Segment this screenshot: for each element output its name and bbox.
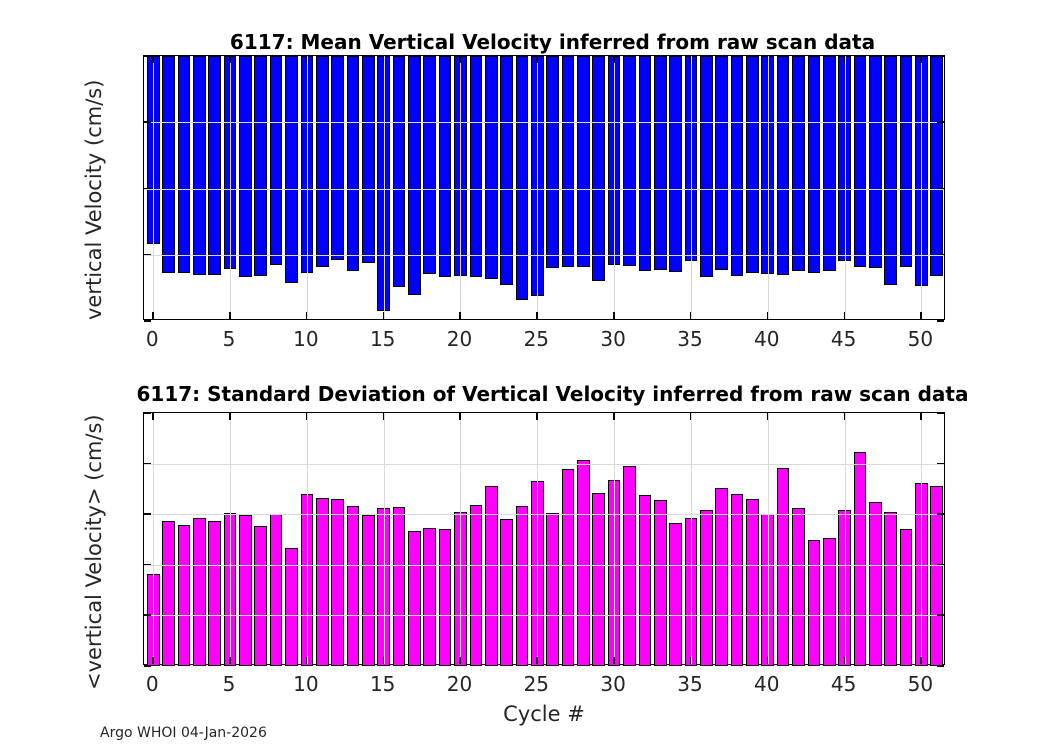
x-tick-label: 30 xyxy=(573,329,653,349)
bar xyxy=(577,460,590,666)
figure-canvas: 6117: Mean Vertical Velocity inferred fr… xyxy=(0,0,1050,750)
x-tick-mark xyxy=(152,312,154,319)
y-tick-mark xyxy=(144,254,151,256)
x-tick-label: 20 xyxy=(419,674,499,694)
bar xyxy=(208,56,221,275)
footer-attribution: Argo WHOI 04-Jan-2026 xyxy=(100,725,267,741)
bar-series-std xyxy=(144,413,944,664)
x-tick-mark xyxy=(920,56,922,63)
y-tick-mark xyxy=(144,614,151,616)
gridline-horizontal xyxy=(144,122,944,123)
plot-area-std xyxy=(143,412,945,665)
bar xyxy=(193,56,206,275)
x-tick-label: 35 xyxy=(650,674,730,694)
gridline-vertical xyxy=(460,56,461,319)
x-tick-label: 50 xyxy=(880,329,960,349)
bar xyxy=(639,56,652,271)
x-tick-mark xyxy=(152,56,154,63)
bar xyxy=(700,510,713,666)
x-axis-label: Cycle # xyxy=(143,702,945,726)
x-tick-mark xyxy=(383,413,385,420)
y-tick-mark xyxy=(144,665,151,667)
gridline-vertical xyxy=(845,413,846,664)
bar xyxy=(731,56,744,276)
bar xyxy=(792,56,805,271)
bar xyxy=(808,56,821,273)
gridline-vertical xyxy=(614,56,615,319)
bar xyxy=(485,56,498,279)
bar xyxy=(500,519,513,666)
bar xyxy=(485,486,498,666)
y-tick-mark xyxy=(144,320,151,322)
bar xyxy=(746,56,759,273)
y-tick-mark xyxy=(937,188,944,190)
y-tick-mark xyxy=(937,665,944,667)
bar xyxy=(500,56,513,285)
bar xyxy=(516,56,529,300)
x-tick-mark xyxy=(690,657,692,664)
plot-area-mean xyxy=(143,55,945,320)
gridline-vertical xyxy=(845,56,846,319)
bar xyxy=(869,56,882,268)
x-tick-mark xyxy=(690,413,692,420)
bar xyxy=(700,56,713,277)
bar xyxy=(208,521,221,666)
x-tick-mark xyxy=(306,657,308,664)
bar xyxy=(823,538,836,666)
y-tick-mark xyxy=(937,614,944,616)
bar xyxy=(347,506,360,666)
y-tick-mark xyxy=(937,463,944,465)
bar xyxy=(869,502,882,666)
bar xyxy=(270,56,283,265)
x-tick-mark xyxy=(306,312,308,319)
x-tick-label: 0 xyxy=(112,674,192,694)
x-tick-mark xyxy=(536,56,538,63)
bar xyxy=(439,56,452,277)
x-tick-mark xyxy=(383,312,385,319)
x-tick-mark xyxy=(844,56,846,63)
x-tick-mark xyxy=(767,657,769,664)
bar xyxy=(331,56,344,260)
gridline-vertical xyxy=(691,56,692,319)
x-tick-mark xyxy=(536,413,538,420)
gridline-horizontal xyxy=(144,255,944,256)
gridline-horizontal xyxy=(144,565,944,566)
x-tick-label: 10 xyxy=(266,329,346,349)
bar xyxy=(654,500,667,666)
gridline-horizontal xyxy=(144,615,944,616)
bar xyxy=(854,56,867,267)
x-tick-mark xyxy=(459,657,461,664)
bar xyxy=(623,56,636,266)
bar xyxy=(439,529,452,666)
bar xyxy=(654,56,667,270)
x-tick-mark xyxy=(536,312,538,319)
gridline-vertical xyxy=(768,56,769,319)
x-tick-mark xyxy=(383,657,385,664)
gridline-vertical xyxy=(230,56,231,319)
bar xyxy=(884,512,897,666)
bar xyxy=(639,495,652,666)
bar xyxy=(669,523,682,666)
gridline-vertical xyxy=(230,413,231,664)
bar xyxy=(178,56,191,273)
gridline-vertical xyxy=(384,413,385,664)
x-tick-label: 25 xyxy=(496,329,576,349)
x-tick-mark xyxy=(459,312,461,319)
gridline-vertical xyxy=(614,413,615,664)
bar xyxy=(362,515,375,666)
bar xyxy=(746,499,759,666)
x-tick-mark xyxy=(613,312,615,319)
y-tick-mark xyxy=(937,121,944,123)
bar xyxy=(162,521,175,666)
bar xyxy=(331,499,344,666)
y-axis-label-mean: vertical Velocity (cm/s) xyxy=(82,80,106,320)
bar xyxy=(823,56,836,271)
x-tick-mark xyxy=(229,413,231,420)
bar xyxy=(162,56,175,273)
gridline-horizontal xyxy=(144,514,944,515)
x-tick-label: 10 xyxy=(266,674,346,694)
bar xyxy=(347,56,360,271)
bar xyxy=(470,56,483,277)
y-tick-mark xyxy=(937,55,944,57)
y-tick-mark xyxy=(937,564,944,566)
y-tick-mark xyxy=(144,412,151,414)
x-tick-mark xyxy=(229,56,231,63)
bar xyxy=(930,56,943,276)
bar xyxy=(577,56,590,267)
x-tick-mark xyxy=(767,56,769,63)
bar xyxy=(470,505,483,666)
bar xyxy=(393,56,406,287)
y-tick-mark xyxy=(937,412,944,414)
x-tick-label: 40 xyxy=(727,329,807,349)
bar xyxy=(270,514,283,666)
y-tick-mark xyxy=(937,320,944,322)
x-tick-mark xyxy=(152,657,154,664)
bar xyxy=(516,506,529,666)
x-tick-label: 0 xyxy=(112,329,192,349)
x-tick-mark xyxy=(920,657,922,664)
x-tick-mark xyxy=(459,413,461,420)
x-tick-mark xyxy=(690,56,692,63)
bar-series-mean xyxy=(144,56,944,319)
x-tick-mark xyxy=(229,312,231,319)
x-tick-label: 50 xyxy=(880,674,960,694)
bar xyxy=(362,56,375,263)
bar xyxy=(254,56,267,276)
bar xyxy=(900,56,913,267)
gridline-vertical xyxy=(768,413,769,664)
bar xyxy=(854,452,867,666)
y-tick-mark xyxy=(144,188,151,190)
gridline-vertical xyxy=(921,413,922,664)
x-tick-mark xyxy=(613,56,615,63)
x-tick-mark xyxy=(536,657,538,664)
x-tick-label: 30 xyxy=(573,674,653,694)
bar xyxy=(562,469,575,666)
x-tick-mark xyxy=(229,657,231,664)
x-tick-mark xyxy=(767,312,769,319)
y-tick-mark xyxy=(144,513,151,515)
x-tick-mark xyxy=(306,56,308,63)
bar xyxy=(777,56,790,275)
x-tick-label: 45 xyxy=(804,674,884,694)
x-tick-mark xyxy=(767,413,769,420)
x-tick-mark xyxy=(844,312,846,319)
x-tick-label: 15 xyxy=(343,674,423,694)
chart-title-std: 6117: Standard Deviation of Vertical Vel… xyxy=(60,382,1045,406)
bar xyxy=(193,518,206,666)
y-tick-mark xyxy=(144,564,151,566)
bar xyxy=(178,525,191,666)
y-tick-mark xyxy=(144,55,151,57)
x-tick-label: 20 xyxy=(419,329,499,349)
x-tick-mark xyxy=(306,413,308,420)
bar xyxy=(408,531,421,666)
gridline-vertical xyxy=(307,413,308,664)
bar xyxy=(239,515,252,666)
x-tick-mark xyxy=(844,657,846,664)
bar xyxy=(900,529,913,666)
gridline-vertical xyxy=(460,413,461,664)
bar xyxy=(792,508,805,666)
bar xyxy=(285,56,298,283)
y-tick-mark xyxy=(937,513,944,515)
x-tick-label: 5 xyxy=(189,329,269,349)
gridline-vertical xyxy=(537,56,538,319)
bar xyxy=(884,56,897,285)
x-tick-label: 25 xyxy=(496,674,576,694)
bar xyxy=(715,56,728,270)
x-tick-mark xyxy=(613,413,615,420)
y-tick-mark xyxy=(937,254,944,256)
y-tick-mark xyxy=(144,463,151,465)
bar xyxy=(562,56,575,267)
x-tick-label: 15 xyxy=(343,329,423,349)
bar xyxy=(546,56,559,268)
x-tick-label: 45 xyxy=(804,329,884,349)
bar xyxy=(254,526,267,666)
bar xyxy=(408,56,421,295)
x-tick-mark xyxy=(152,413,154,420)
gridline-vertical xyxy=(153,413,154,664)
bar xyxy=(393,507,406,666)
x-tick-mark xyxy=(613,657,615,664)
x-tick-mark xyxy=(844,413,846,420)
bar xyxy=(623,466,636,666)
bar xyxy=(423,528,436,666)
gridline-vertical xyxy=(307,56,308,319)
bar xyxy=(316,498,329,666)
bar xyxy=(808,540,821,667)
x-tick-label: 5 xyxy=(189,674,269,694)
x-tick-label: 40 xyxy=(727,674,807,694)
x-tick-mark xyxy=(920,413,922,420)
bar xyxy=(669,56,682,272)
y-tick-mark xyxy=(144,121,151,123)
bar xyxy=(546,513,559,666)
bar xyxy=(777,468,790,666)
x-tick-mark xyxy=(459,56,461,63)
bar xyxy=(731,494,744,666)
x-tick-mark xyxy=(690,312,692,319)
y-axis-label-std: <vertical Velocity> (cm/s) xyxy=(82,414,106,690)
gridline-vertical xyxy=(153,56,154,319)
bar xyxy=(592,493,605,666)
gridline-vertical xyxy=(384,56,385,319)
gridline-horizontal xyxy=(144,189,944,190)
bar xyxy=(239,56,252,277)
x-tick-mark xyxy=(383,56,385,63)
bar xyxy=(592,56,605,281)
gridline-vertical xyxy=(537,413,538,664)
bar xyxy=(423,56,436,274)
x-tick-label: 35 xyxy=(650,329,730,349)
bar xyxy=(316,56,329,267)
chart-title-mean: 6117: Mean Vertical Velocity inferred fr… xyxy=(60,30,1045,54)
gridline-horizontal xyxy=(144,464,944,465)
gridline-vertical xyxy=(921,56,922,319)
x-tick-mark xyxy=(920,312,922,319)
gridline-vertical xyxy=(691,413,692,664)
